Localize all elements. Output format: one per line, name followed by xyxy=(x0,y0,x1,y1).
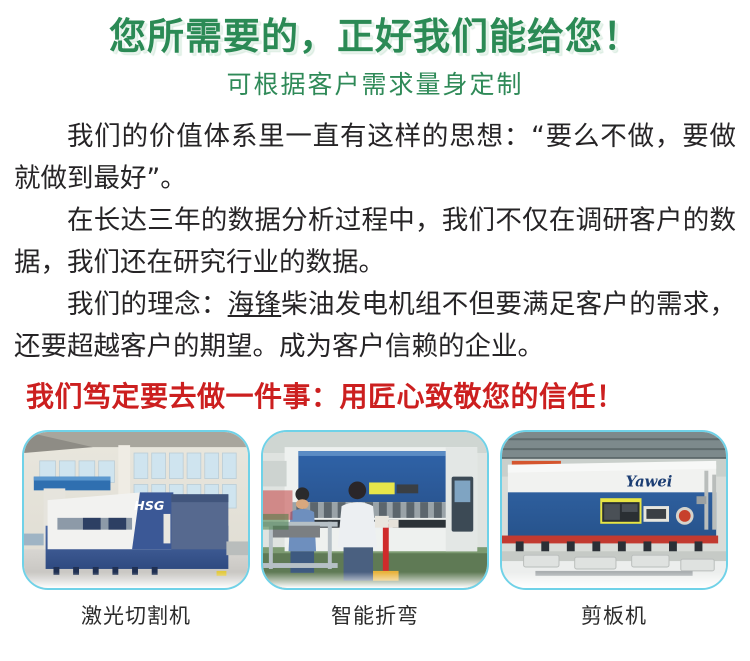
laser-cutting-machine-photo: HSG xyxy=(22,430,250,590)
photo-caption-bending: 智能折弯 xyxy=(331,590,419,629)
photo-strip: HSG 激光切割机 xyxy=(0,416,750,629)
svg-text:HSG: HSG xyxy=(134,499,164,514)
promo-page: 您所需要的，正好我们能给您！ 可根据客户需求量身定制 我们的价值体系里一直有这样… xyxy=(0,0,750,661)
philosophy-prefix: 我们的理念： xyxy=(67,289,228,320)
laser-cutting-machine-illustration: HSG xyxy=(24,432,248,588)
brand-name-haifeng: 海锋 xyxy=(228,289,282,320)
shearing-machine-illustration: Yawei xyxy=(502,432,726,588)
paragraph-philosophy: 我们的理念：海锋柴油发电机组不但要满足客户的需求，还要超越客户的期望。成为客户信… xyxy=(14,284,736,368)
plate-shearing-machine-photo: Yawei xyxy=(500,430,728,590)
photo-cell-shearing: Yawei xyxy=(500,430,728,629)
photo-caption-laser-cutting: 激光切割机 xyxy=(81,590,191,629)
press-brake-bending-machine-photo xyxy=(261,430,489,590)
headline-block: 您所需要的，正好我们能给您！ 可根据客户需求量身定制 xyxy=(0,0,750,102)
photo-cell-laser-cutting: HSG 激光切割机 xyxy=(22,430,250,629)
main-title: 您所需要的，正好我们能给您！ xyxy=(0,8,750,60)
red-slogan: 我们笃定要去做一件事：用匠心致敬您的信任！ xyxy=(0,368,750,416)
photo-cell-bending: 智能折弯 xyxy=(261,430,489,629)
body-copy: 我们的价值体系里一直有这样的思想：“要么不做，要做就做到最好”。 在长达三年的数… xyxy=(0,102,750,368)
press-brake-illustration xyxy=(263,432,487,588)
photo-caption-shearing: 剪板机 xyxy=(581,590,647,629)
paragraph-data-analysis: 在长达三年的数据分析过程中，我们不仅在调研客户的数据，我们还在研究行业的数据。 xyxy=(14,200,736,284)
paragraph-value-system: 我们的价值体系里一直有这样的思想：“要么不做，要做就做到最好”。 xyxy=(14,116,736,200)
sub-title: 可根据客户需求量身定制 xyxy=(0,60,750,102)
machine-brand-yawei: Yawei xyxy=(626,473,673,490)
